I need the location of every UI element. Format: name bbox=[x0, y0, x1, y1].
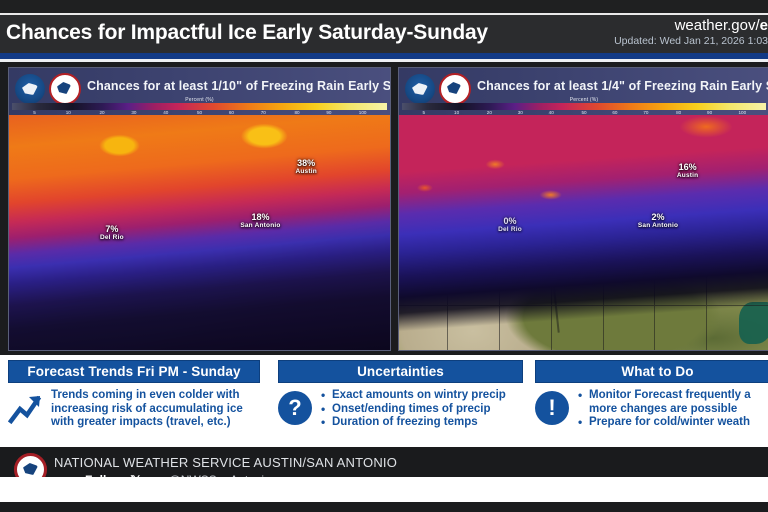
maps-region: Chances for at least 1/10" of Freezing R… bbox=[0, 62, 768, 355]
card-uncertainties[interactable]: Uncertainties ? Exact amounts on wintry … bbox=[278, 360, 523, 430]
card-bullet-list: Monitor Forecast frequently a more chang… bbox=[576, 389, 751, 430]
colorbar-gradient bbox=[12, 103, 387, 110]
card-heading: Uncertainties bbox=[357, 364, 444, 379]
city-label-del-rio: 7% Del Rio bbox=[100, 224, 124, 242]
card-body: Trends coming in even colder with increa… bbox=[8, 383, 260, 430]
city-probability: 16% bbox=[677, 162, 698, 172]
map-panel-quarter-inch[interactable]: Chances for at least 1/4" of Freezing Ra… bbox=[398, 67, 768, 351]
office-name: NATIONAL WEATHER SERVICE AUSTIN/SAN ANTO… bbox=[54, 455, 397, 470]
card-heading: What to Do bbox=[621, 364, 693, 379]
list-item-continuation: more changes are possible bbox=[589, 403, 751, 417]
bottom-chrome-strip bbox=[0, 502, 768, 512]
colorbar-right: Percent (%) 5 10 20 30 40 50 60 70 80 bbox=[399, 98, 768, 115]
card-what-to-do[interactable]: What to Do ! Monitor Forecast frequently… bbox=[535, 360, 768, 430]
probability-field-left bbox=[9, 115, 390, 350]
exclamation-mark-icon: ! bbox=[535, 391, 569, 425]
updated-timestamp: Updated: Wed Jan 21, 2026 1:03 bbox=[614, 34, 768, 48]
city-label-san-antonio: 2% San Antonio bbox=[638, 212, 678, 230]
page-title: Chances for Impactful Ice Early Saturday… bbox=[6, 21, 488, 45]
trend-up-arrow-icon bbox=[8, 391, 44, 425]
page-white-band bbox=[0, 477, 768, 502]
card-body: ! Monitor Forecast frequently a more cha… bbox=[535, 383, 768, 430]
list-item: Duration of freezing temps bbox=[332, 416, 506, 430]
graphic-header: Chances for Impactful Ice Early Saturday… bbox=[0, 15, 768, 53]
city-name: Austin bbox=[677, 172, 698, 180]
card-body: ? Exact amounts on wintry precip Onset/e… bbox=[278, 383, 523, 430]
city-probability: 18% bbox=[240, 212, 280, 222]
question-mark-icon: ? bbox=[278, 391, 312, 425]
map-title: Chances for at least 1/4" of Freezing Ra… bbox=[477, 79, 768, 93]
colorbar-gradient bbox=[402, 103, 766, 110]
city-label-austin: 38% Austin bbox=[295, 158, 316, 176]
info-cards-region: Forecast Trends Fri PM - Sunday Trends c… bbox=[0, 355, 768, 447]
map-panel-tenth-inch[interactable]: Chances for at least 1/10" of Freezing R… bbox=[8, 67, 391, 351]
city-probability: 38% bbox=[295, 158, 316, 168]
list-item: Monitor Forecast frequently a bbox=[589, 389, 751, 403]
map-title-bar: Chances for at least 1/10" of Freezing R… bbox=[9, 68, 390, 115]
probability-field-right bbox=[399, 115, 768, 350]
city-name: Austin bbox=[295, 168, 316, 176]
url-suffix: e bbox=[760, 17, 768, 34]
header-meta: weather.gov/e Updated: Wed Jan 21, 2026 … bbox=[614, 17, 768, 48]
city-name: San Antonio bbox=[638, 222, 678, 230]
colorbar-left: Percent (%) 5 10 20 30 40 50 60 70 80 bbox=[9, 98, 390, 115]
list-item: Exact amounts on wintry precip bbox=[332, 389, 506, 403]
city-name: San Antonio bbox=[240, 222, 280, 230]
weather-gov-url[interactable]: weather.gov/e bbox=[614, 17, 768, 34]
map-title-bar: Chances for at least 1/4" of Freezing Ra… bbox=[399, 68, 768, 115]
infographic-body: Chances for Impactful Ice Early Saturday… bbox=[0, 15, 768, 477]
city-probability: 7% bbox=[100, 224, 124, 234]
card-heading: Forecast Trends Fri PM - Sunday bbox=[27, 364, 240, 379]
map-canvas-left[interactable]: 38% Austin 18% San Antonio 7% Del Rio bbox=[9, 115, 390, 350]
url-prefix: weather.gov/ bbox=[675, 17, 760, 34]
weather-graphic-screen: Chances for Impactful Ice Early Saturday… bbox=[0, 0, 768, 512]
card-paragraph: Trends coming in even colder with increa… bbox=[51, 389, 260, 430]
map-title: Chances for at least 1/10" of Freezing R… bbox=[87, 79, 391, 93]
field-shading bbox=[9, 115, 390, 350]
card-heading-bar: What to Do bbox=[535, 360, 768, 383]
city-name: Del Rio bbox=[100, 234, 124, 242]
top-chrome-strip bbox=[0, 0, 768, 13]
card-heading-bar: Uncertainties bbox=[278, 360, 523, 383]
city-label-austin: 16% Austin bbox=[677, 162, 698, 180]
city-name: Del Rio bbox=[498, 226, 522, 234]
list-item: Prepare for cold/winter weath bbox=[589, 416, 751, 430]
map-canvas-right[interactable]: 16% Austin 2% San Antonio 0% Del Rio bbox=[399, 115, 768, 350]
city-label-del-rio: 0% Del Rio bbox=[498, 216, 522, 234]
card-heading-bar: Forecast Trends Fri PM - Sunday bbox=[8, 360, 260, 383]
city-probability: 0% bbox=[498, 216, 522, 226]
card-forecast-trends[interactable]: Forecast Trends Fri PM - Sunday Trends c… bbox=[8, 360, 260, 430]
card-bullet-list: Exact amounts on wintry precip Onset/end… bbox=[319, 389, 506, 430]
list-item: Onset/ending times of precip bbox=[332, 403, 506, 417]
city-label-san-antonio: 18% San Antonio bbox=[240, 212, 280, 230]
city-probability: 2% bbox=[638, 212, 678, 222]
